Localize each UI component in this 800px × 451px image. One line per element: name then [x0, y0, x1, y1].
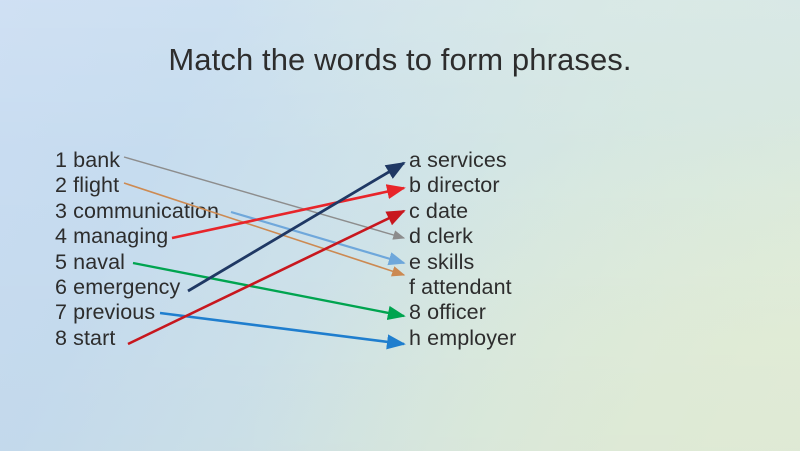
match-connector-lines: [0, 0, 800, 451]
connector-previous-to-employer: [160, 313, 404, 344]
slide-canvas: Match the words to form phrases. 1 bank …: [0, 0, 800, 451]
connector-naval-to-officer: [133, 263, 404, 316]
connector-start-to-date: [128, 211, 404, 344]
